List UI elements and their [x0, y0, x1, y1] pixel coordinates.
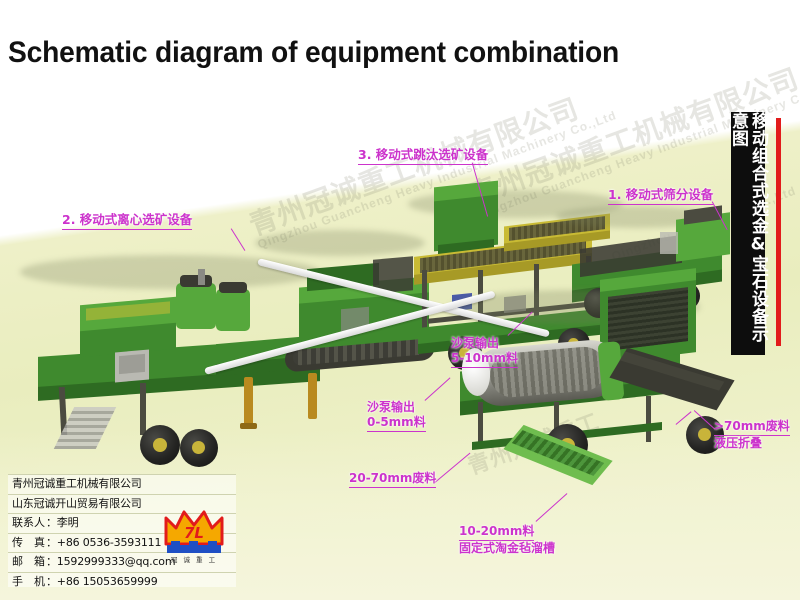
callout-screening-plant: 1. 移动式筛分设备: [608, 184, 713, 205]
vertical-banner-text: 移动组合式选金&宝石设备示意图: [728, 112, 768, 355]
logo-caption: 冠 诚 重 工: [165, 554, 223, 564]
contact-value: ：1592999333@qq.com: [46, 555, 175, 568]
vertical-banner: 移动组合式选金&宝石设备示意图: [731, 112, 765, 355]
callout-label: 2. 移动式离心选矿设备: [62, 209, 192, 230]
callout-jig-plant: 3. 移动式跳汰选矿设备: [358, 144, 488, 165]
callout-sand-pump-0-5: 沙泵输出 0-5mm料: [367, 400, 426, 432]
callout-line-1: 沙泵输出: [367, 400, 426, 415]
callout-line-2: 固定式淘金毡溜槽: [459, 541, 555, 556]
callout-line-1: 10-20mm料: [459, 524, 534, 541]
callout-label: 3. 移动式跳汰选矿设备: [358, 144, 488, 165]
callout-waste-over-70: >70mm废料 液压折叠: [714, 419, 790, 451]
page-title: Schematic diagram of equipment combinati…: [8, 36, 619, 70]
callout-line-1: >70mm废料: [714, 419, 790, 436]
logo-base: [167, 545, 221, 553]
callout-line-2: 0-5mm料: [367, 415, 426, 432]
contact-label: 邮 箱: [12, 553, 46, 572]
contact-label: 联系人: [12, 514, 46, 533]
callout-label: 1. 移动式筛分设备: [608, 184, 713, 205]
callout-line-1: 沙泵输出: [451, 336, 518, 351]
company-logo: 7L 冠 诚 重 工: [163, 504, 225, 566]
contact-row-mobile: 手 机：+86 15053659999: [8, 573, 236, 592]
callout-waste-20-70: 20-70mm废料: [349, 471, 436, 488]
contact-label: 手 机: [12, 573, 46, 592]
contact-value: ：李明: [46, 516, 78, 529]
contact-row: 青州冠诚重工机械有限公司: [8, 475, 236, 495]
callout-sluice-10-20: 10-20mm料 固定式淘金毡溜槽: [459, 524, 555, 556]
company-name-primary: 青州冠诚重工机械有限公司: [12, 477, 142, 490]
callout-line-1: 20-70mm废料: [349, 471, 436, 488]
contact-value: ：+86 0536-3593111: [46, 536, 161, 549]
diagram-canvas: 青州冠诚重工机械有限公司 Qingzhou Guancheng Heavy In…: [0, 0, 800, 600]
company-name-secondary: 山东冠诚开山贸易有限公司: [12, 497, 142, 510]
callout-line-2: 5-10mm料: [451, 351, 518, 368]
contact-label: 传 真: [12, 534, 46, 553]
contact-value: ：+86 15053659999: [46, 575, 158, 588]
callout-sand-pump-5-10: 沙泵输出 5-10mm料: [451, 336, 518, 368]
callout-line-2: 液压折叠: [714, 436, 790, 451]
banner-red-rule: [776, 118, 781, 346]
callout-centrifugal-plant: 2. 移动式离心选矿设备: [62, 209, 192, 230]
svg-text:7L: 7L: [184, 524, 204, 542]
